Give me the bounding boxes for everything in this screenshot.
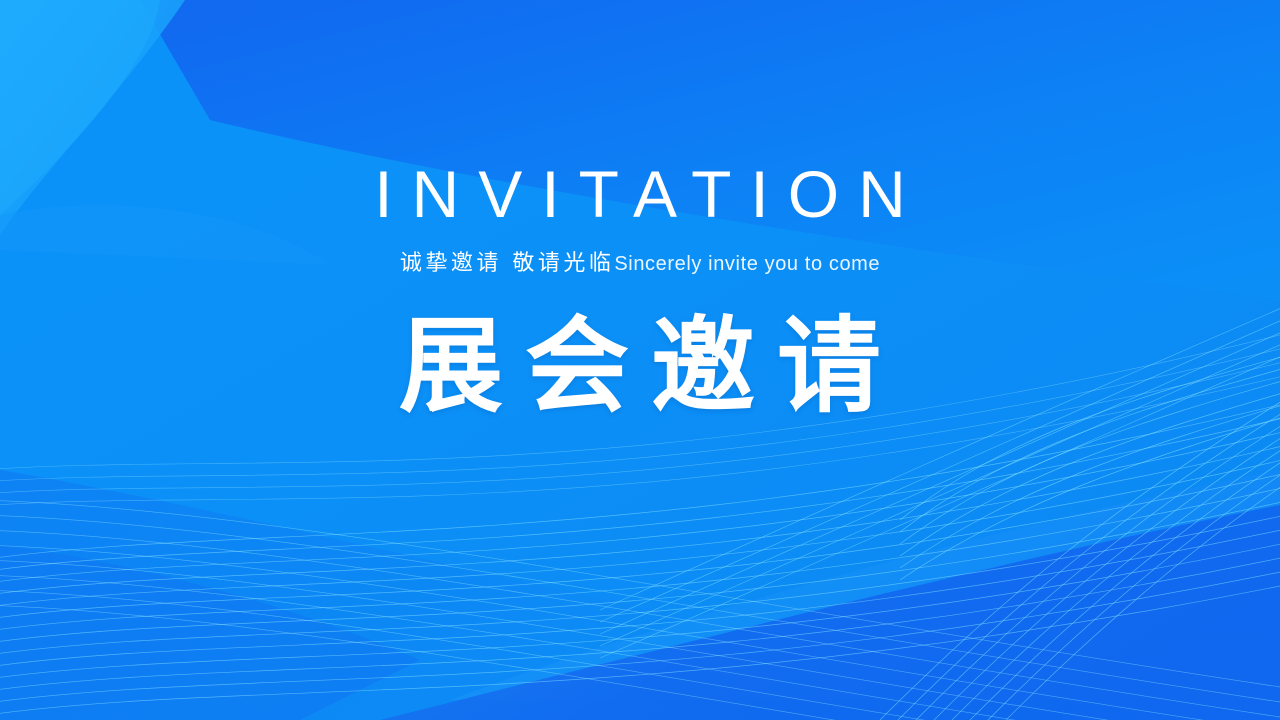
- subtitle-english: Sincerely invite you to come: [614, 253, 880, 275]
- subtitle-row: 诚挚邀请 敬请光临Sincerely invite you to come: [0, 250, 1280, 280]
- subtitle-chinese: 诚挚邀请 敬请光临: [400, 251, 615, 276]
- invitation-poster: INVITATION 诚挚邀请 敬请光临Sincerely invite you…: [0, 0, 1280, 720]
- main-title: 展会邀请: [0, 306, 1280, 426]
- headline-invitation: INVITATION: [0, 160, 1280, 228]
